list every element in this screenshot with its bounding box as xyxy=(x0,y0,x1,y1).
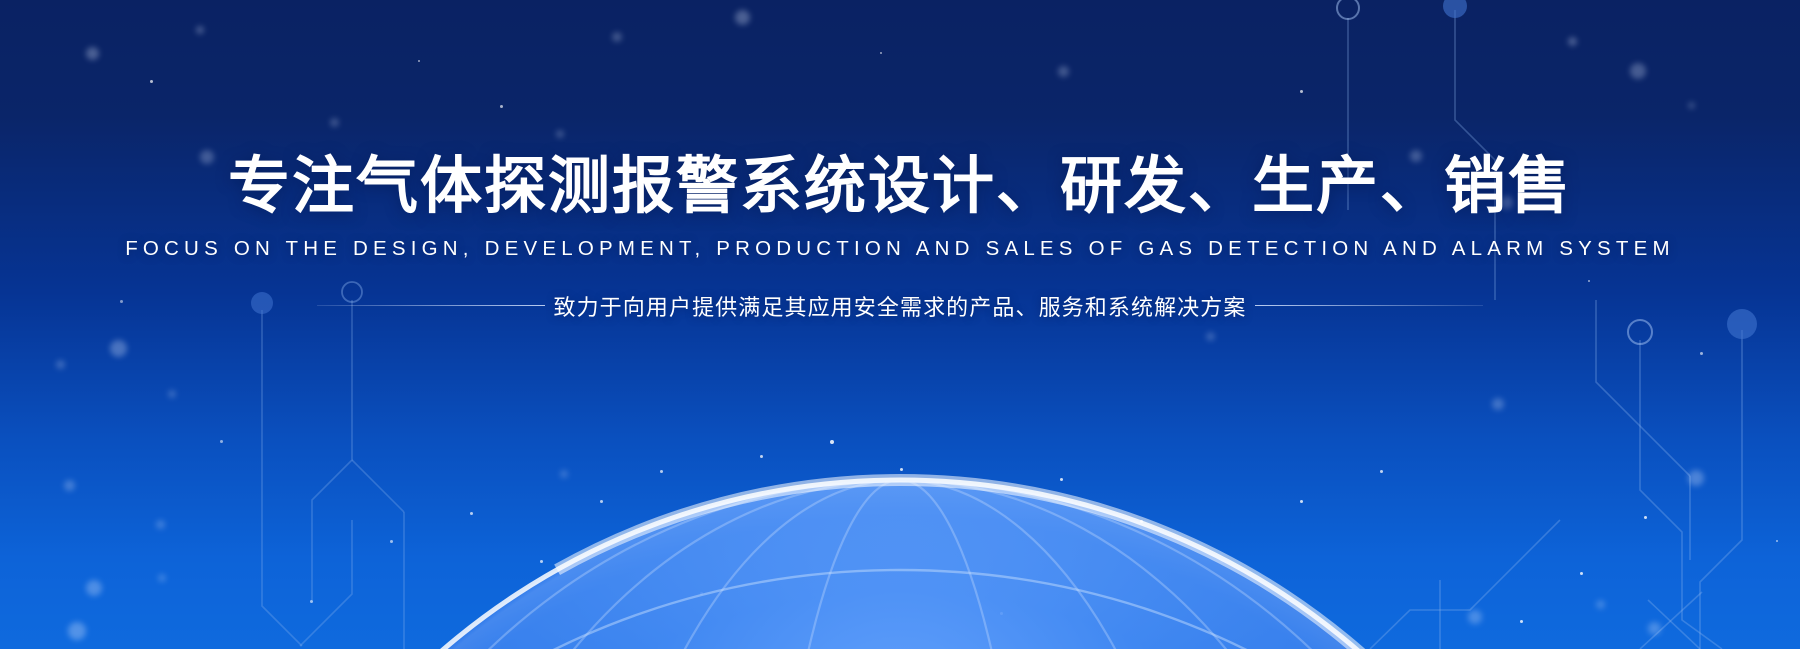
tagline-text: 致力于向用户提供满足其应用安全需求的产品、服务和系统解决方案 xyxy=(545,290,1254,322)
divider-right xyxy=(1255,305,1483,306)
network-globe xyxy=(190,470,1610,649)
subtitle-english: FOCUS ON THE DESIGN, DEVELOPMENT, PRODUC… xyxy=(0,237,1800,262)
page-title: 专注气体探测报警系统设计、研发、生产、销售 xyxy=(0,150,1800,223)
hero-banner: 专注气体探测报警系统设计、研发、生产、销售 FOCUS ON THE DESIG… xyxy=(0,0,1800,649)
starfield xyxy=(0,0,1800,649)
latitude-lines xyxy=(200,470,1600,649)
longitude-lines xyxy=(270,480,1530,649)
circuit-trace-right xyxy=(0,0,1800,649)
circuit-trace-left xyxy=(0,0,1800,649)
hero-copy: 专注气体探测报警系统设计、研发、生产、销售 FOCUS ON THE DESIG… xyxy=(0,150,1800,322)
tagline-row: 致力于向用户提供满足其应用安全需求的产品、服务和系统解决方案 xyxy=(0,290,1800,322)
divider-left xyxy=(317,305,545,306)
